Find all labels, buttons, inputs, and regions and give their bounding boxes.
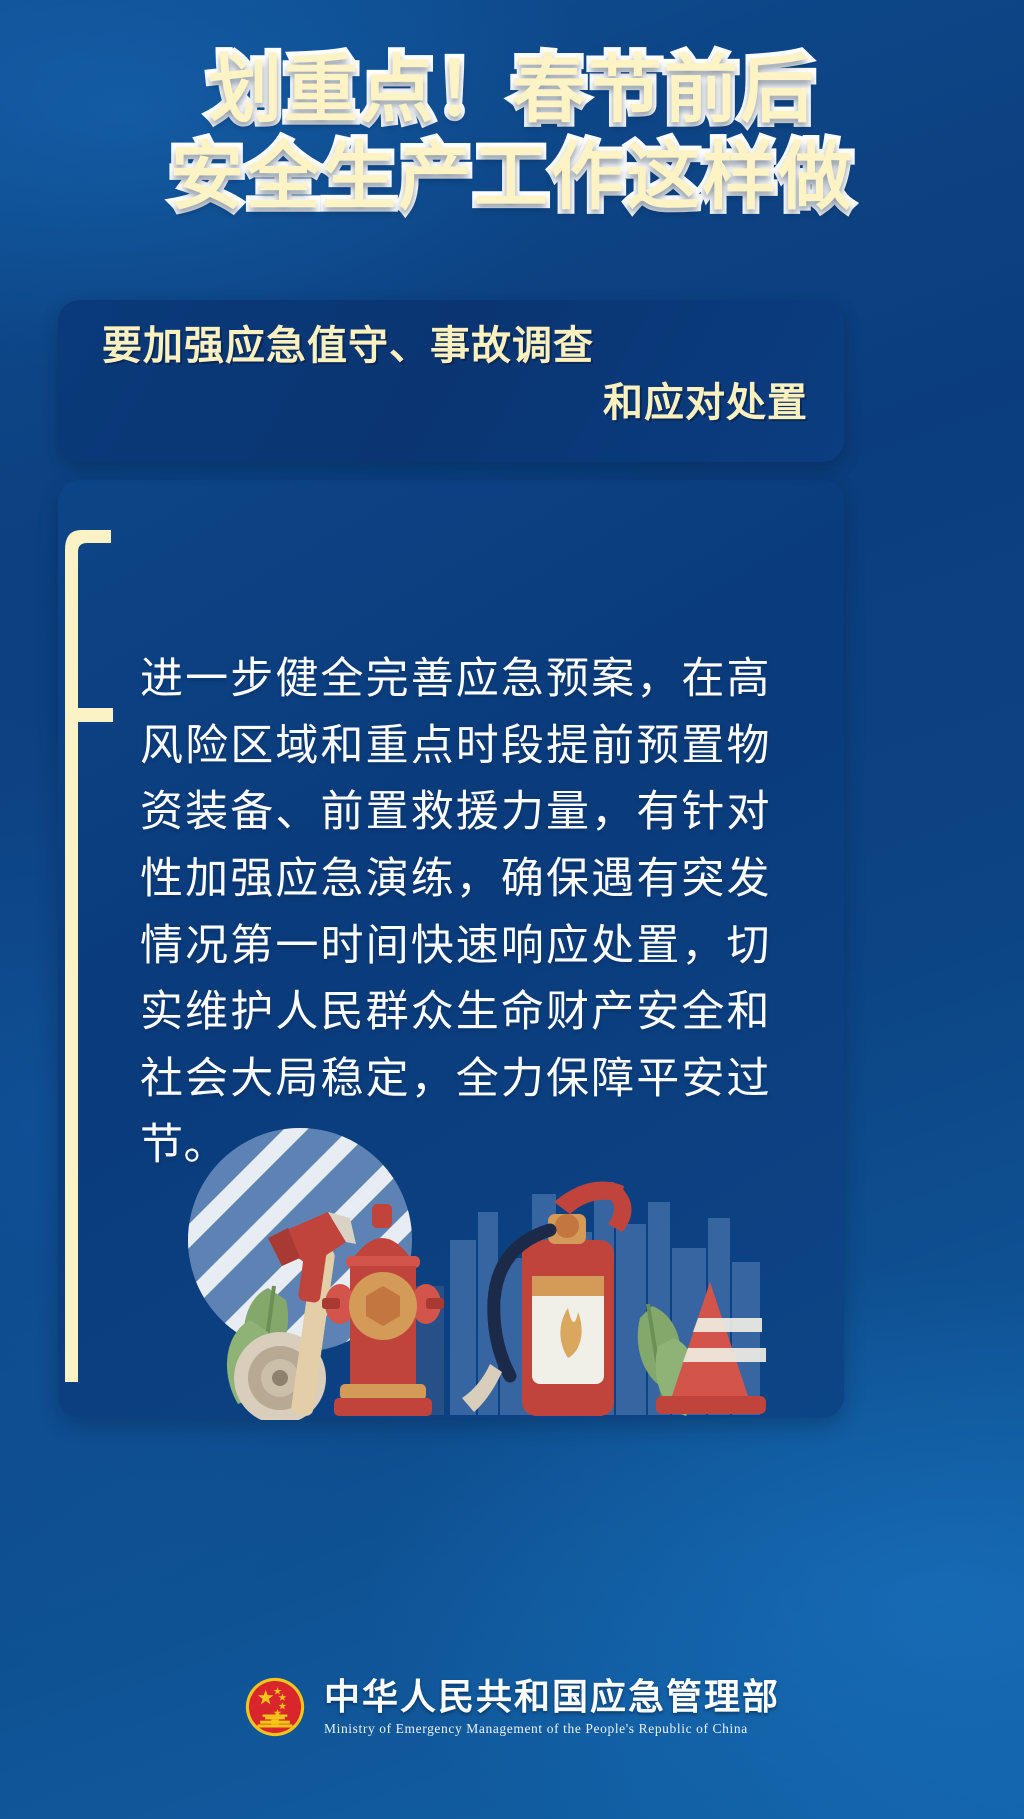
title-line-1: 划重点！春节前后 — [0, 46, 1024, 133]
footer: 中华人民共和国应急管理部 Ministry of Emergency Manag… — [0, 1676, 1024, 1738]
ministry-name-en: Ministry of Emergency Management of the … — [324, 1722, 780, 1737]
subtitle-banner: 要加强应急值守、事故调查 和应对处置 — [58, 300, 844, 462]
body-paragraph: 进一步健全完善应急预案，在高风险区域和重点时段提前预置物资装备、前置救援力量，有… — [140, 646, 770, 1179]
page-title: 划重点！春节前后 安全生产工作这样做 — [0, 46, 1024, 221]
subtitle-inner: 要加强应急值守、事故调查 和应对处置 — [102, 318, 808, 432]
national-emblem-icon — [244, 1676, 306, 1738]
footer-text-block: 中华人民共和国应急管理部 Ministry of Emergency Manag… — [324, 1677, 780, 1736]
subtitle-line-1: 要加强应急值守、事故调查 — [102, 318, 808, 375]
title-line-2: 安全生产工作这样做 — [0, 133, 1024, 220]
poster-root: 划重点！春节前后 安全生产工作这样做 要加强应急值守、事故调查 和应对处置 进一… — [0, 0, 1024, 1819]
subtitle-line-2: 和应对处置 — [102, 375, 808, 432]
ministry-name-cn: 中华人民共和国应急管理部 — [324, 1677, 780, 1717]
